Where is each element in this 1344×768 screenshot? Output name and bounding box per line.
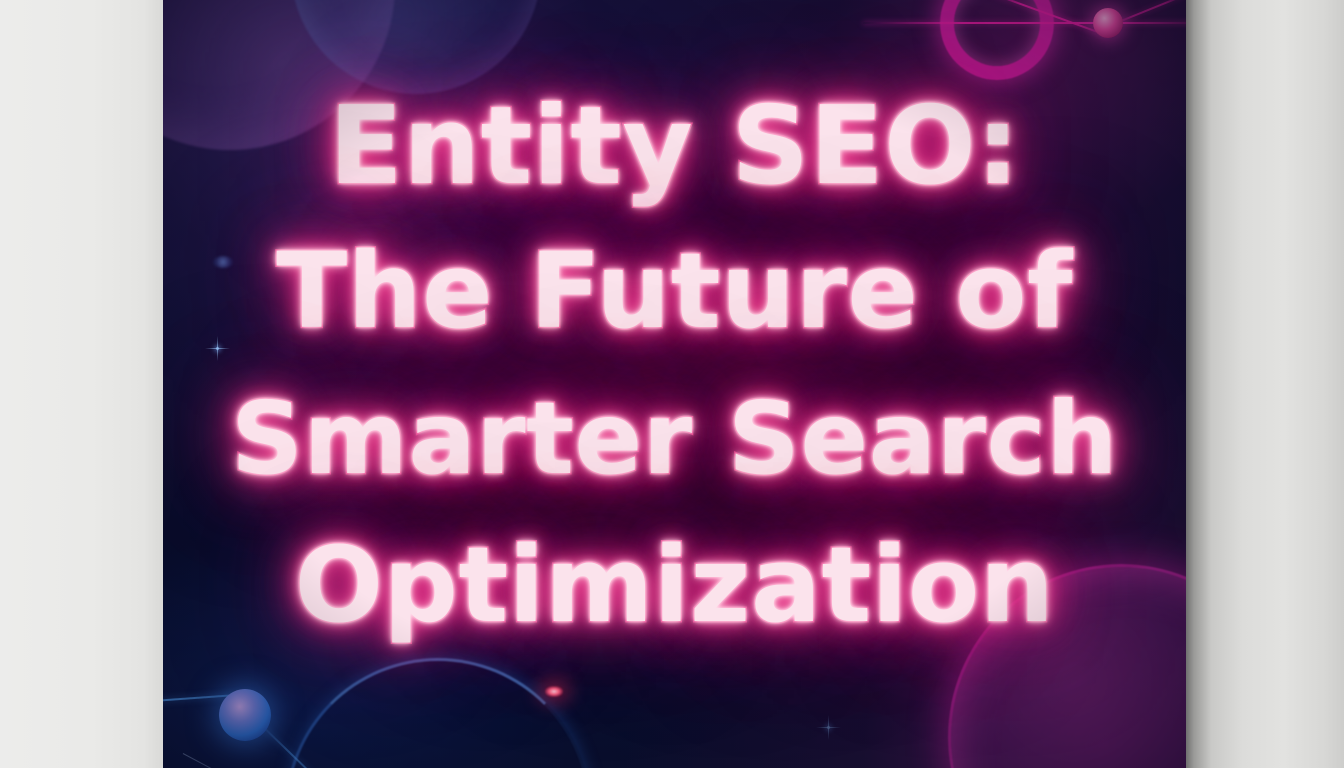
- sparkle-bottom-right-icon: [827, 726, 830, 729]
- headline-line-2: The Future of: [187, 216, 1162, 366]
- headline-line-4: Optimization: [187, 512, 1162, 658]
- page-margin-left: [0, 0, 163, 768]
- page-margin-right: [1186, 0, 1344, 768]
- poster-headline: Entity SEO: The Future of Smarter Search…: [163, 0, 1186, 658]
- headline-line-3: Smarter Search: [187, 366, 1162, 512]
- screenshot-canvas: Entity SEO: The Future of Smarter Search…: [0, 0, 1344, 768]
- headline-line-1: Entity SEO:: [187, 78, 1162, 216]
- poster-artwork: Entity SEO: The Future of Smarter Search…: [163, 0, 1186, 768]
- blue-connection-line-1: [163, 693, 253, 704]
- red-glow-dot-bottom-icon: [545, 686, 563, 697]
- blue-arc-bottom-left-icon: [285, 658, 591, 768]
- blue-connection-line-2: [183, 753, 259, 768]
- blue-node-bottom-left-icon: [219, 689, 271, 741]
